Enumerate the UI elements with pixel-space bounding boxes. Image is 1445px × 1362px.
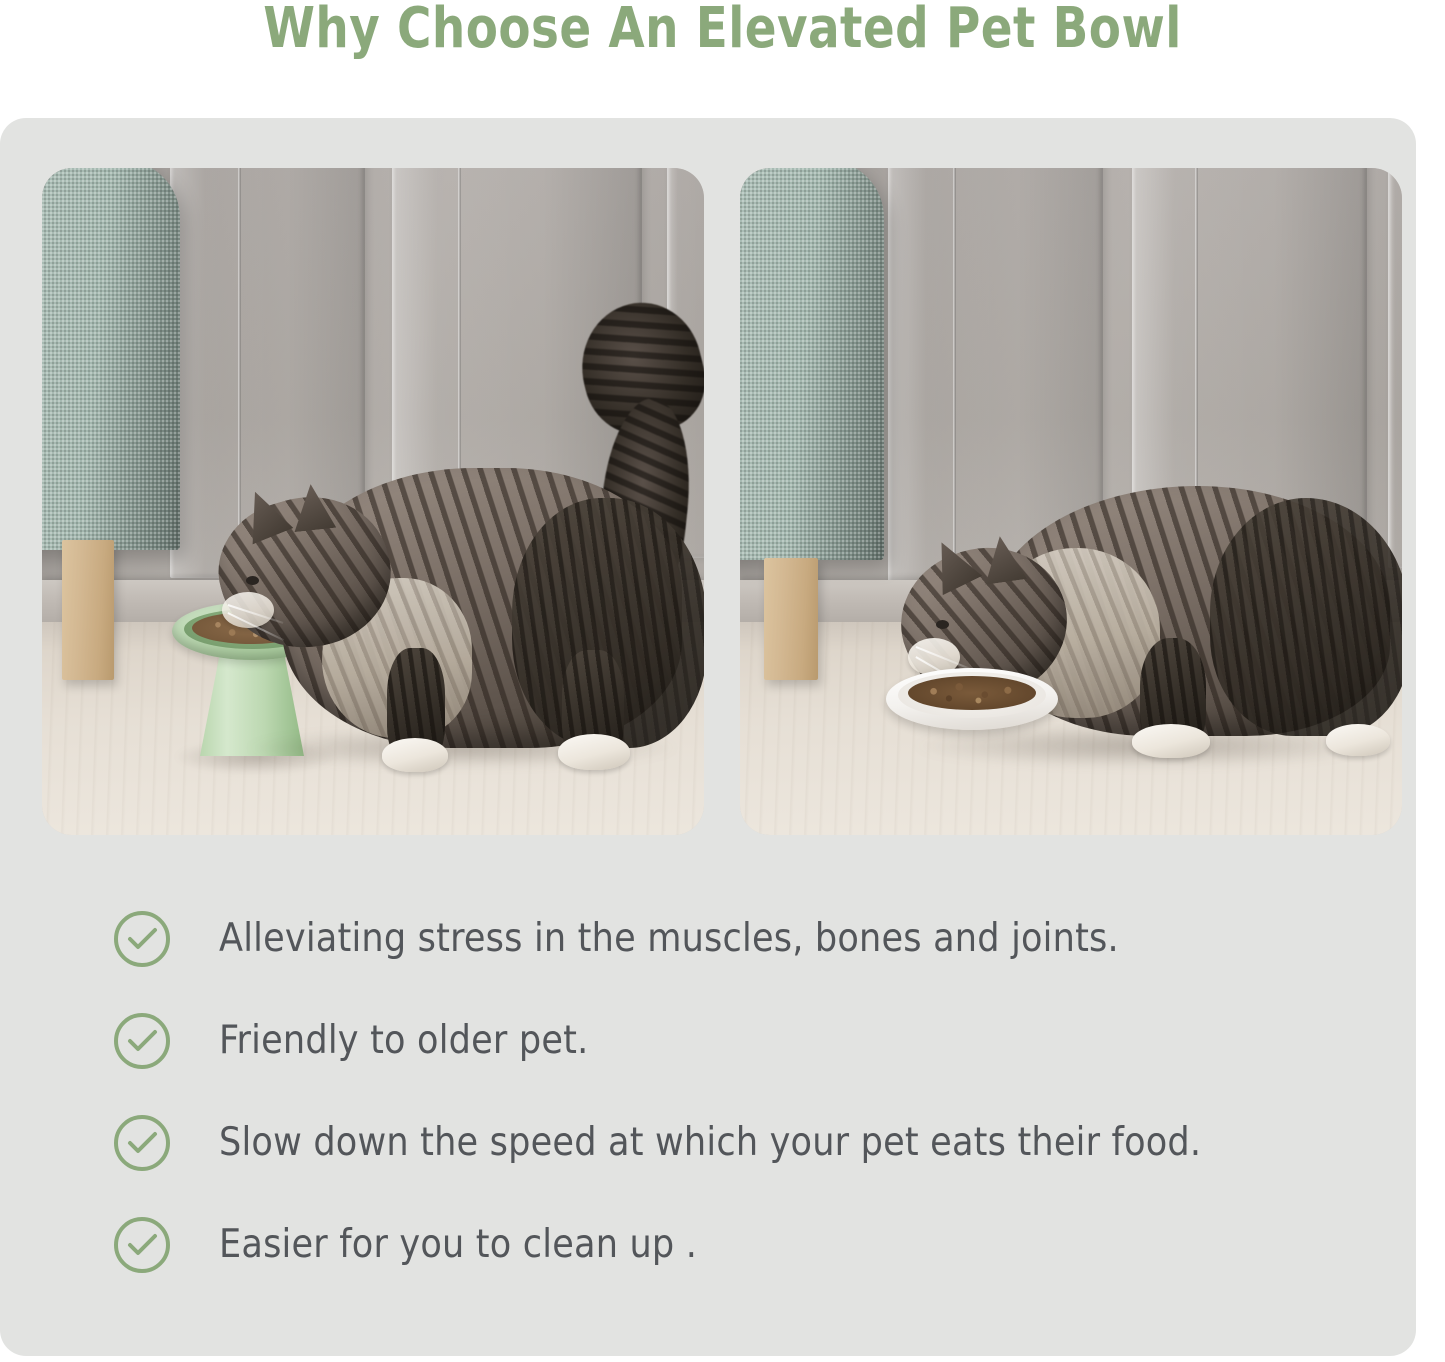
check-circle-icon (112, 1113, 172, 1173)
benefit-text: Slow down the speed at which your pet ea… (219, 1120, 1201, 1166)
check-circle-icon (112, 1215, 172, 1275)
page-title: Why Choose An Elevated Pet Bowl (51, 0, 1395, 60)
benefit-item: Slow down the speed at which your pet ea… (112, 1092, 1392, 1194)
benefits-list: Alleviating stress in the muscles, bones… (112, 888, 1392, 1296)
photo-comparison-row (42, 168, 1402, 835)
sofa-arm (740, 168, 884, 560)
cat-hindquarters (1210, 498, 1402, 736)
content-card: Alleviating stress in the muscles, bones… (0, 118, 1416, 1356)
cat-front-paw (382, 738, 448, 772)
check-circle-icon (112, 909, 172, 969)
check-circle-icon (112, 1011, 172, 1071)
infographic-root: Why Choose An Elevated Pet Bowl (0, 0, 1445, 1362)
benefit-item: Friendly to older pet. (112, 990, 1392, 1092)
wall-panel-3 (1388, 168, 1402, 568)
cat-back-paw (558, 734, 630, 770)
sofa-arm (42, 168, 180, 550)
benefit-text: Alleviating stress in the muscles, bones… (219, 916, 1119, 962)
photo-floor-dish (740, 168, 1402, 835)
benefit-item: Alleviating stress in the muscles, bones… (112, 888, 1392, 990)
cat-front-paw (1132, 724, 1210, 758)
benefit-item: Easier for you to clean up . (112, 1194, 1392, 1296)
sofa-leg (764, 558, 818, 680)
cat-eye (936, 620, 949, 629)
benefit-text: Easier for you to clean up . (219, 1222, 697, 1268)
sofa-leg (62, 540, 114, 680)
benefit-text: Friendly to older pet. (219, 1018, 588, 1064)
floor-dish-food (908, 676, 1036, 710)
wall-panel-groove-1 (238, 168, 241, 573)
wall-panel-groove-1 (953, 168, 956, 584)
cat-back-paw (1326, 724, 1390, 756)
photo-elevated-bowl (42, 168, 704, 835)
cat-eye (246, 576, 259, 585)
